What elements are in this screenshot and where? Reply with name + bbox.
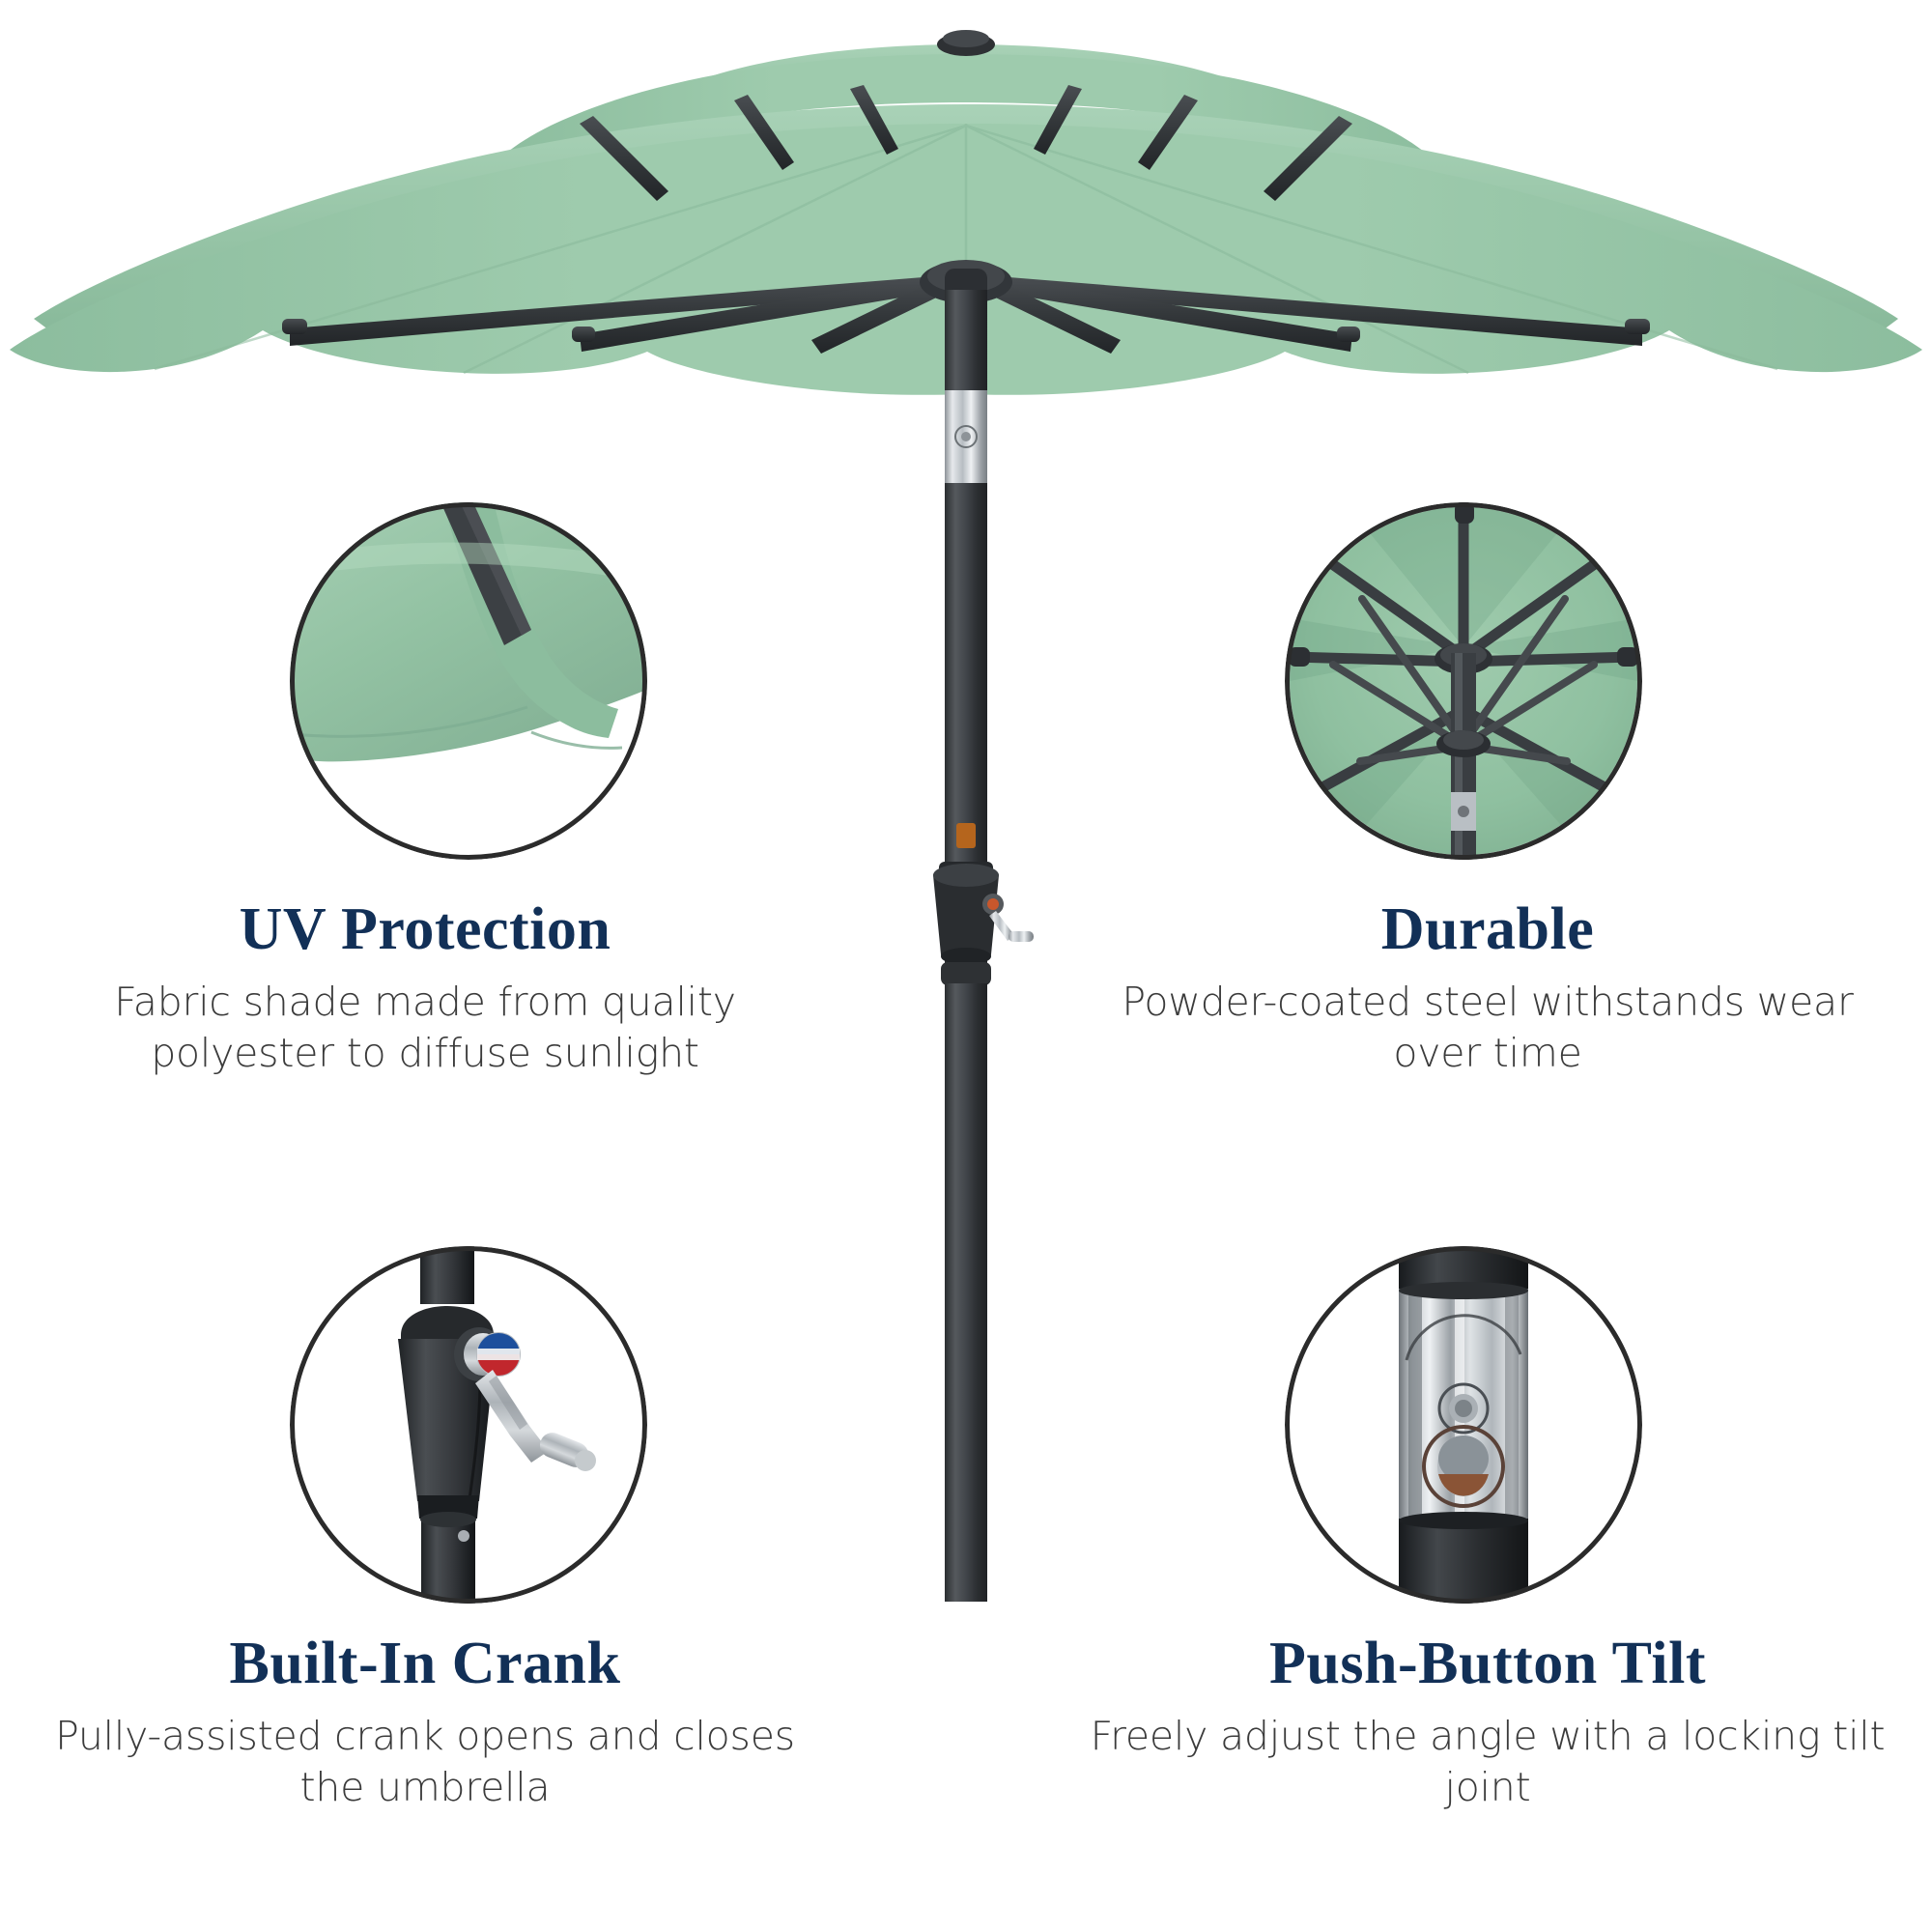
tilt-joint-closeup: [1285, 1246, 1642, 1604]
umbrella-finial: [937, 30, 995, 56]
open-close-label: [477, 1333, 520, 1376]
feature-description-durable: Powder-coated steel withstands wear over…: [1082, 977, 1893, 1080]
umbrella-illustration: [0, 0, 1932, 1642]
inset-push-button-tilt: [1285, 1246, 1642, 1604]
pole-above-crank: [420, 1246, 474, 1304]
feature-title-uv-protection: UV Protection: [19, 898, 831, 961]
feature-text-uv-protection: UV Protection Fabric shade made from qua…: [19, 898, 831, 1080]
feature-title-push-button-tilt: Push-Button Tilt: [1082, 1633, 1893, 1695]
crank-handle-grip: [1009, 931, 1034, 942]
feature-description-push-button-tilt: Freely adjust the angle with a locking t…: [1082, 1711, 1893, 1814]
feature-text-push-button-tilt: Push-Button Tilt Freely adjust the angle…: [1082, 1633, 1893, 1814]
pole-below-tilt: [1399, 1519, 1528, 1604]
feature-text-built-in-crank: Built-In Crank Pully-assisted crank open…: [19, 1633, 831, 1814]
feature-description-uv-protection: Fabric shade made from quality polyester…: [19, 977, 831, 1080]
umbrella-lower-pole: [941, 962, 991, 1602]
inset-built-in-crank: [290, 1246, 647, 1604]
feature-title-durable: Durable: [1082, 898, 1893, 961]
feature-title-built-in-crank: Built-In Crank: [19, 1633, 831, 1695]
crank-housing: [933, 864, 1034, 965]
pole-warning-sticker: [956, 823, 976, 848]
canopy-fabric-edge-closeup: [290, 502, 647, 860]
inset-durable: [1285, 502, 1642, 860]
pole-pin: [458, 1530, 469, 1542]
pole-below-crank: [421, 1517, 475, 1604]
feature-description-built-in-crank: Pully-assisted crank opens and closes th…: [19, 1711, 831, 1814]
lower-hub-runner: [1436, 730, 1491, 757]
crank-handle-closeup: [290, 1246, 647, 1604]
feature-text-durable: Durable Powder-coated steel withstands w…: [1082, 898, 1893, 1080]
inset-uv-protection: [290, 502, 647, 860]
infographic-canvas: UV Protection Fabric shade made from qua…: [0, 0, 1932, 1932]
umbrella-underside-ribs-closeup: [1285, 502, 1642, 860]
hero-umbrella-image: [0, 0, 1932, 1642]
